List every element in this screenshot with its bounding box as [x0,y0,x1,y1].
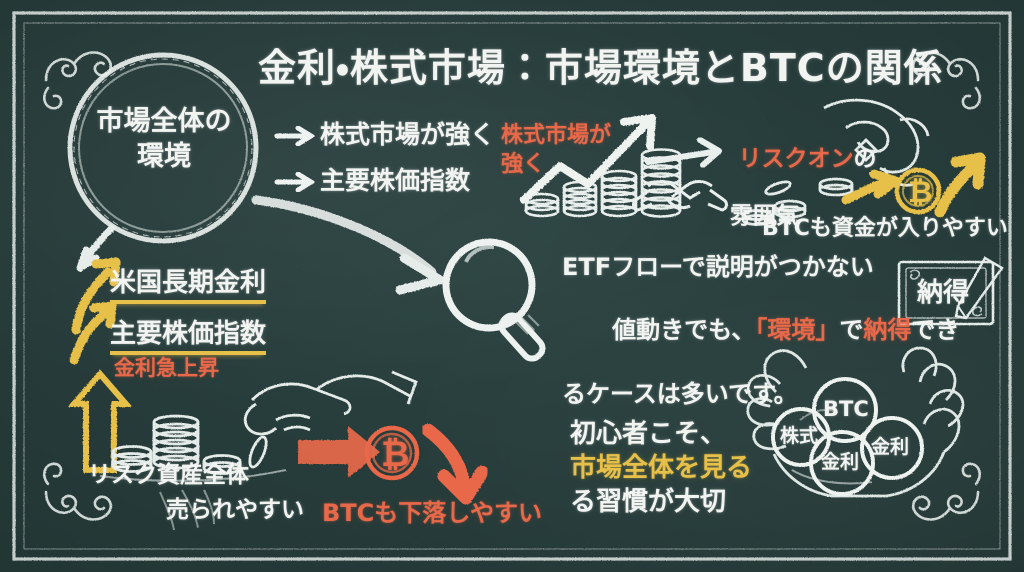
corner-flourish-bottom-right [913,464,980,520]
chalkboard-infographic: 金利・株式市場：市場環境とBTCの関係 市場全体の 環境 株式市場が強く 主要株… [0,0,1024,572]
magnifier-icon [446,242,546,362]
arrow-list-item-1: 株式市場が強く [320,120,495,149]
arrow-list-item-2: 主要株価指数 [320,166,470,195]
etf-note-kankyou: 「環境」 [755,316,839,344]
rates-line1: 米国長期金利 [110,262,266,304]
beginner-block: 初心者こそ、 市場全体を見る る習慣が大切 [570,418,752,519]
stock-strong-line2: 強く [501,152,545,178]
risk-on-rest: の [854,146,877,172]
arrow-right-small-2 [277,174,311,190]
coin-stack-growth-chart [526,150,680,217]
page-title: 金利・株式市場：市場環境とBTCの関係 [258,46,943,90]
beginner-line2: 市場全体を見る [570,452,752,486]
risk-on-accent: リスクオン [739,146,854,172]
rates-block: 米国長期金利 主要株価指数 [110,262,266,355]
coin-label-kinri-2: 金利 [871,436,909,458]
rate-surge-text: 金利急上昇 [114,356,219,380]
beginner-line1: 初心者こそ、 [570,418,752,452]
btc-inflow-text: BTCも資金が入りやすい [762,216,1008,242]
coin-label-kabu: 株式 [780,425,818,447]
market-environment-label: 市場全体の 環境 [74,106,254,169]
arrow-right-small-1 [277,128,311,144]
risk-on-block: リスクオンの 雰囲気 [708,120,877,230]
gold-block-arrow-up [74,374,126,470]
etf-note-line2-a: 値動きでも、 [612,316,755,344]
stamp-label: 納得 [917,278,969,308]
btc-down-text: BTCも下落しやすい [322,500,542,528]
orange-block-arrow-right [298,426,380,478]
orange-curved-arrow-down [428,430,482,498]
coin-label-btc: BTC [823,397,869,421]
etf-note-line1: ETFフローで説明がつかない [562,252,959,284]
curved-arrow-to-rates [80,228,112,268]
etf-note-block: ETFフローで説明がつかない 値動きでも、「環境」で納得でき るケースは多いです… [562,252,959,410]
curved-arrow-to-magnifier [256,200,440,290]
market-environment-line2: 環境 [74,141,254,172]
etf-note-line2-e: でき [911,316,959,344]
btc-symbol-gold: ₿ [908,176,932,211]
etf-note-nattoku: 納得 [863,316,911,344]
rates-line2: 主要株価指数 [110,313,266,355]
stock-strong-line1: 株式市場が [501,123,611,149]
btc-symbol-orange: ₿ [381,435,410,476]
coin-label-kinri-1: 金利 [821,451,859,473]
corner-flourish-top-left [44,53,111,109]
beginner-line3: る習慣が大切 [570,486,752,520]
risk-assets-line2: 売られやすい [166,497,304,524]
risk-assets-line1: リスク資産全体 [88,462,249,489]
market-environment-line1: 市場全体の [74,106,254,137]
etf-note-line3: るケースは多いです。 [562,379,959,411]
etf-note-line2-c: で [839,316,863,344]
